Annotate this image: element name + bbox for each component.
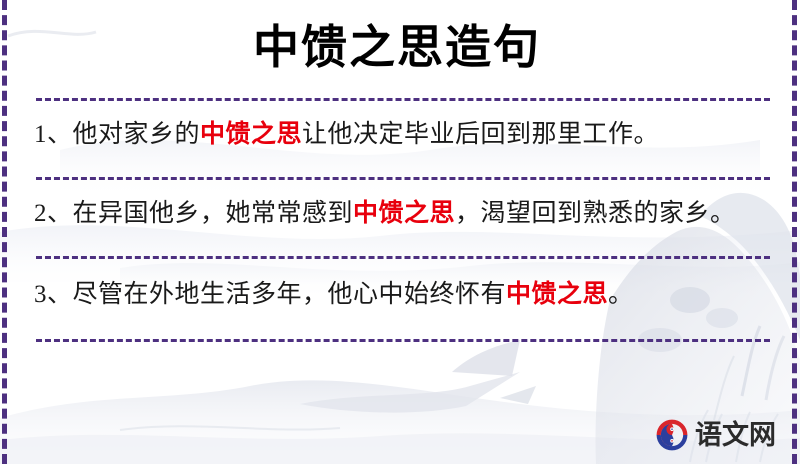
sentence-2-keyword: 中馈之思 [353,200,455,227]
left-dashed-border [2,0,7,464]
divider-bottom [36,339,770,342]
sentence-item-2: 2、在异国他乡，她常常感到中馈之思，渴望回到熟悉的家乡。 [16,180,778,246]
sentence-item-3: 3、尽管在外地生活多年，他心中始终怀有中馈之思。 [16,259,778,329]
sentence-1-before: 他对家乡的 [73,121,201,148]
site-logo-text: 语文网 [695,420,776,450]
sentence-item-1: 1、他对家乡的中馈之思让他决定毕业后回到那里工作。 [16,101,778,167]
card-content: 中馈之思造句 1、他对家乡的中馈之思让他决定毕业后回到那里工作。 2、在异国他乡… [0,0,800,464]
sentence-3-after: 。 [608,281,634,308]
taiji-fish-logo-icon [655,418,689,452]
sentence-1-after: 让他决定毕业后回到那里工作。 [302,121,659,148]
sentence-2-after: ，渴望回到熟悉的家乡。 [455,200,736,227]
sentence-3-keyword: 中馈之思 [506,281,608,308]
right-dashed-border [792,0,797,464]
site-logo[interactable]: 语文网 [655,418,776,452]
page-title: 中馈之思造句 [16,0,778,86]
sentence-card-page: 中馈之思造句 1、他对家乡的中馈之思让他决定毕业后回到那里工作。 2、在异国他乡… [0,0,800,464]
sentence-1-index: 1、 [34,121,73,148]
sentence-2-index: 2、 [34,200,73,227]
sentence-2-before: 在异国他乡，她常常感到 [73,200,354,227]
sentence-3-before: 尽管在外地生活多年，他心中始终怀有 [73,281,507,308]
sentence-1-keyword: 中馈之思 [200,121,302,148]
sentence-3-index: 3、 [34,281,73,308]
